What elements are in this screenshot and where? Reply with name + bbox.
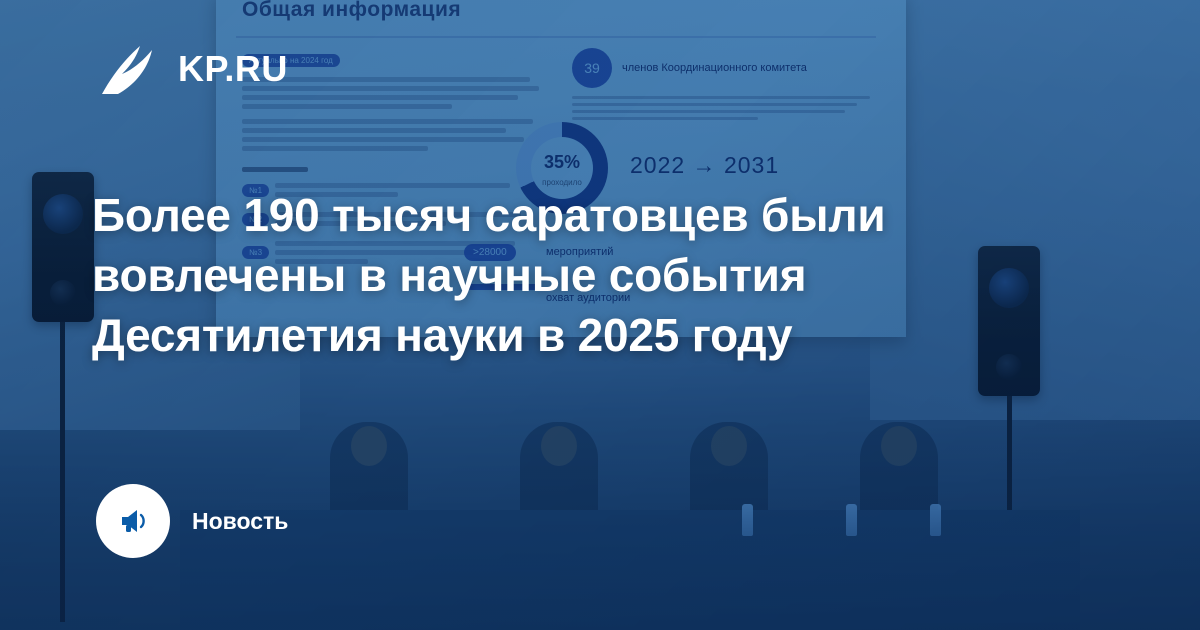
status-badge[interactable]: Новость — [96, 484, 288, 558]
brand[interactable]: KP.RU — [96, 36, 288, 102]
megaphone-icon — [96, 484, 170, 558]
bird-logo-icon — [96, 36, 162, 102]
page-title: Более 190 тысяч саратовцев были вовлечен… — [92, 186, 1102, 365]
brand-name: KP.RU — [178, 48, 288, 90]
news-share-card: Общая информация Актуально на 2024 год №… — [0, 0, 1200, 630]
badge-label: Новость — [192, 508, 288, 535]
